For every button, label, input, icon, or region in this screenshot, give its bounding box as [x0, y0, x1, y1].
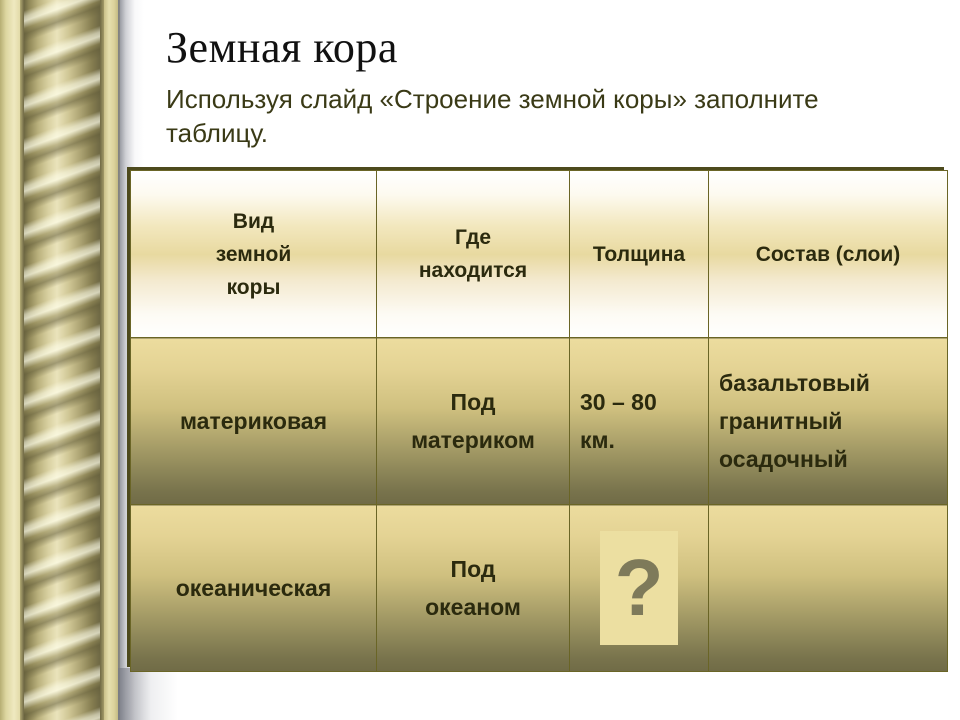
cell-text: базальтовый — [719, 370, 870, 396]
canvas-bottom-shadow — [118, 668, 178, 720]
slide-canvas: Земная кора Используя слайд «Строение зе… — [0, 0, 960, 720]
header-line: земной — [216, 243, 292, 266]
header-line: Состав (слои) — [756, 243, 901, 266]
table-header-row: Вид земной коры Где находится Толщина Со… — [131, 171, 948, 338]
header-line: Вид — [233, 210, 274, 233]
header-line: Где — [455, 226, 491, 249]
frame-inner-band — [104, 0, 120, 720]
cell-kind-oceanic: океаническая — [131, 505, 377, 672]
cell-text: океаническая — [176, 575, 332, 601]
cell-text: 30 – 80 — [580, 389, 657, 415]
table-row: материковая Под материком 30 – 80 км. ба… — [131, 338, 948, 505]
cell-text: осадочный — [719, 446, 848, 472]
column-header-thickness: Толщина — [570, 171, 709, 338]
header-line: коры — [227, 276, 281, 299]
decorative-left-frame — [0, 0, 118, 720]
cell-text: гранитный — [719, 408, 842, 434]
table-row: океаническая Под океаном ? — [131, 505, 948, 672]
header-line: Толщина — [593, 243, 685, 266]
question-mark-placeholder-icon[interactable]: ? — [600, 531, 678, 645]
cell-kind-continental: материковая — [131, 338, 377, 505]
page-title: Земная кора — [166, 22, 398, 73]
cell-location-oceanic: Под океаном — [377, 505, 570, 672]
cell-composition-oceanic[interactable] — [709, 505, 948, 672]
cell-text: Под — [451, 389, 496, 415]
column-header-composition: Состав (слои) — [709, 171, 948, 338]
cell-text: км. — [580, 427, 615, 453]
cell-thickness-continental: 30 – 80 км. — [570, 338, 709, 505]
column-header-kind: Вид земной коры — [131, 171, 377, 338]
crust-table: Вид земной коры Где находится Толщина Со… — [130, 170, 948, 672]
cell-text: океаном — [425, 594, 521, 620]
cell-text: материковая — [180, 408, 327, 434]
cell-thickness-oceanic[interactable]: ? — [570, 505, 709, 672]
page-subtitle: Используя слайд «Строение земной коры» з… — [166, 82, 886, 150]
crust-table-container: Вид земной коры Где находится Толщина Со… — [127, 167, 944, 667]
cell-composition-continental: базальтовый гранитный осадочный — [709, 338, 948, 505]
header-line: находится — [419, 259, 527, 282]
twisted-rope-column-icon — [24, 0, 100, 720]
cell-text: материком — [411, 427, 535, 453]
column-header-location: Где находится — [377, 171, 570, 338]
cell-text: Под — [451, 556, 496, 582]
cell-location-continental: Под материком — [377, 338, 570, 505]
